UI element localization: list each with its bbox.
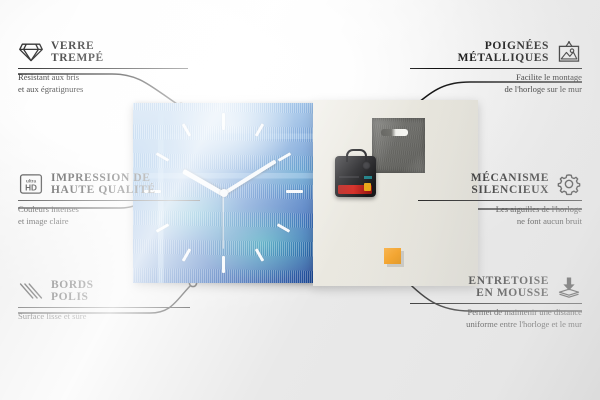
diamond-icon — [18, 40, 44, 64]
feature-title-line2: POLIS — [51, 291, 94, 303]
tick-mark — [255, 123, 265, 137]
feature-mecanisme-silencieux[interactable]: MÉCANISME SILENCIEUX Les aiguilles de l'… — [418, 172, 582, 227]
feature-desc-line1: Les aiguilles de l'horloge — [418, 204, 582, 216]
feature-bords-polis[interactable]: BORDS POLIS Surface lisse et sûre — [18, 279, 190, 323]
feature-title-line1: BORDS — [51, 279, 94, 291]
gear-icon — [556, 172, 582, 196]
second-hand — [222, 193, 223, 249]
feature-title-line2: HAUTE QUALITÉ — [51, 184, 156, 196]
feature-desc-line1: Couleurs intenses — [18, 204, 200, 216]
foam-spacer — [384, 248, 401, 264]
divider — [410, 68, 582, 69]
polished-edges-icon — [18, 279, 44, 303]
infographic-canvas: VERRE TREMPÉ Résistant aux bris et aux é… — [0, 0, 600, 400]
feature-title-line2: SILENCIEUX — [471, 184, 549, 196]
feature-impression-haute-qualite[interactable]: ultra HD IMPRESSION DE HAUTE QUALITÉ Cou… — [18, 172, 200, 227]
divider — [18, 307, 190, 308]
feature-verre-trempe[interactable]: VERRE TREMPÉ Résistant aux bris et aux é… — [18, 40, 188, 95]
metal-hanger-plate — [372, 118, 425, 173]
tick-mark — [222, 113, 225, 130]
feature-desc-line2: uniforme entre l'horloge et le mur — [410, 319, 582, 331]
mechanism-hanging-loop — [346, 149, 367, 162]
tick-mark — [277, 223, 291, 233]
feature-title-line2: TREMPÉ — [51, 52, 104, 64]
tick-mark — [255, 248, 265, 262]
tick-mark — [278, 152, 292, 162]
feature-desc-line1: Permet de maintenir une distance — [410, 307, 582, 319]
mechanism-marking — [364, 176, 372, 179]
ultra-hd-icon: ultra HD — [18, 172, 44, 196]
feature-title-line1: POIGNÉES — [458, 40, 549, 52]
feature-desc-line1: Résistant aux bris — [18, 72, 188, 84]
tick-mark — [222, 256, 225, 273]
feature-poignees-metalliques[interactable]: POIGNÉES MÉTALLIQUES Facilite le montage… — [410, 40, 582, 95]
hand-center-cap — [220, 189, 228, 197]
clock-mechanism — [335, 156, 376, 197]
feature-title-line1: IMPRESSION DE — [51, 172, 156, 184]
tick-mark — [156, 152, 170, 162]
feature-entretoise-en-mousse[interactable]: ENTRETOISE EN MOUSSE Permet de maintenir… — [410, 275, 582, 330]
battery-terminal — [364, 183, 371, 191]
tick-mark — [182, 123, 192, 137]
feature-desc-line2: de l'horloge sur le mur — [410, 84, 582, 96]
divider — [418, 200, 582, 201]
battery — [338, 185, 372, 194]
feature-title-line1: MÉCANISME — [471, 172, 549, 184]
mechanism-set-dial — [362, 161, 371, 170]
feature-title-line2: MÉTALLIQUES — [458, 52, 549, 64]
feature-title-line1: VERRE — [51, 40, 104, 52]
mechanism-label — [339, 176, 359, 178]
divider — [18, 68, 188, 69]
minute-hand — [222, 159, 277, 195]
picture-hanger-icon — [556, 40, 582, 64]
feature-title-line2: EN MOUSSE — [468, 287, 549, 299]
divider — [18, 200, 200, 201]
feature-desc-line2: et aux égratignures — [18, 84, 188, 96]
svg-text:HD: HD — [25, 184, 37, 193]
feature-desc-line2: ne font aucun bruit — [418, 216, 582, 228]
tick-mark — [286, 190, 303, 193]
divider — [410, 303, 582, 304]
feature-desc-line2: et image claire — [18, 216, 200, 228]
feature-desc-line1: Surface lisse et sûre — [18, 311, 190, 323]
tick-mark — [182, 248, 192, 262]
svg-text:ultra: ultra — [26, 179, 37, 184]
feature-title-line1: ENTRETOISE — [468, 275, 549, 287]
hanger-slot — [381, 129, 408, 136]
feature-desc-line1: Facilite le montage — [410, 72, 582, 84]
spacer-arrow-icon — [556, 275, 582, 299]
